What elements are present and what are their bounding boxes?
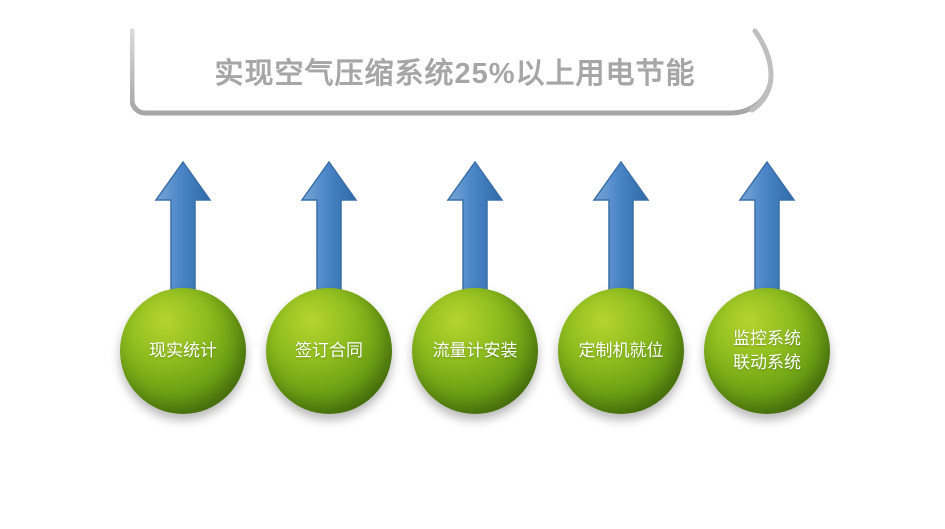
process-step-2[interactable]: 签订合同 — [266, 160, 392, 440]
process-step-3[interactable]: 流量计安装 — [412, 160, 538, 440]
up-arrow-icon — [153, 160, 213, 292]
step-label: 监控系统 联动系统 — [704, 288, 830, 414]
process-steps: 现实统计 签订合同 流量计安装 — [120, 160, 832, 440]
step-label: 流量计安装 — [412, 288, 538, 414]
page-title: 实现空气压缩系统25%以上用电节能 — [150, 50, 760, 92]
title-banner: 实现空气压缩系统25%以上用电节能 — [130, 28, 780, 133]
process-step-1[interactable]: 现实统计 — [120, 160, 246, 440]
step-label: 签订合同 — [266, 288, 392, 414]
step-circle[interactable]: 监控系统 联动系统 — [704, 288, 830, 414]
up-arrow-icon — [737, 160, 797, 292]
step-circle[interactable]: 定制机就位 — [558, 288, 684, 414]
step-circle[interactable]: 流量计安装 — [412, 288, 538, 414]
step-label: 现实统计 — [120, 288, 246, 414]
step-label: 定制机就位 — [558, 288, 684, 414]
up-arrow-icon — [445, 160, 505, 292]
step-circle[interactable]: 签订合同 — [266, 288, 392, 414]
slide-canvas: 实现空气压缩系统25%以上用电节能 现实统计 — [0, 0, 945, 529]
process-step-4[interactable]: 定制机就位 — [558, 160, 684, 440]
up-arrow-icon — [299, 160, 359, 292]
step-circle[interactable]: 现实统计 — [120, 288, 246, 414]
up-arrow-icon — [591, 160, 651, 292]
process-step-5[interactable]: 监控系统 联动系统 — [704, 160, 830, 440]
